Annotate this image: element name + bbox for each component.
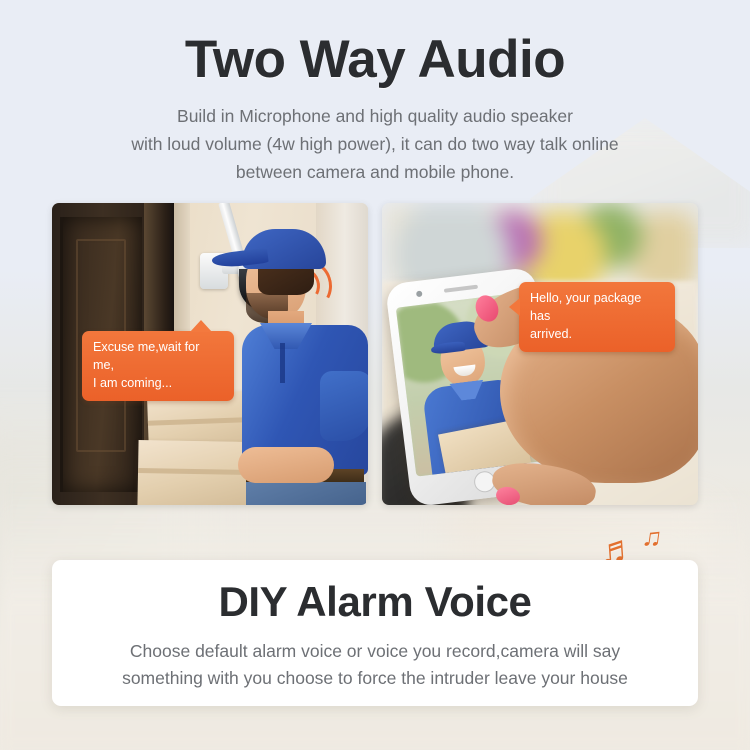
phone-front-camera-icon (416, 291, 423, 298)
card-title: DIY Alarm Voice (52, 578, 698, 626)
card-text-line-1: Choose default alarm voice or voice you … (52, 638, 698, 665)
man-arm (238, 447, 334, 483)
man-jeans (246, 482, 366, 505)
page-subtitle: Build in Microphone and high quality aud… (0, 102, 750, 187)
header: Two Way Audio Build in Microphone and hi… (0, 32, 750, 187)
man-sleeve (320, 371, 368, 441)
phone-earpiece (444, 285, 478, 293)
promo-page: Two Way Audio Build in Microphone and hi… (0, 0, 750, 750)
photo-delivery-at-door: Excuse me,wait for me, I am coming... (52, 203, 368, 505)
subtitle-line-1: Build in Microphone and high quality aud… (0, 102, 750, 130)
photo-row: Excuse me,wait for me, I am coming... (52, 203, 698, 505)
card-text-line-2: something with you choose to force the i… (52, 665, 698, 692)
photo-phone-video-call: Hello, your package has arrived. (382, 203, 698, 505)
diy-alarm-voice-card: DIY Alarm Voice Choose default alarm voi… (52, 560, 698, 706)
speech-bubble-homeowner: Hello, your package has arrived. (519, 282, 675, 352)
subtitle-line-2: with loud volume (4w high power), it can… (0, 130, 750, 158)
music-note-icon: ♫ (640, 523, 664, 553)
speech-bubble-visitor: Excuse me,wait for me, I am coming... (82, 331, 234, 401)
card-description: Choose default alarm voice or voice you … (52, 638, 698, 692)
page-title: Two Way Audio (0, 32, 750, 88)
subtitle-line-3: between camera and mobile phone. (0, 158, 750, 186)
man-placket (280, 343, 285, 383)
